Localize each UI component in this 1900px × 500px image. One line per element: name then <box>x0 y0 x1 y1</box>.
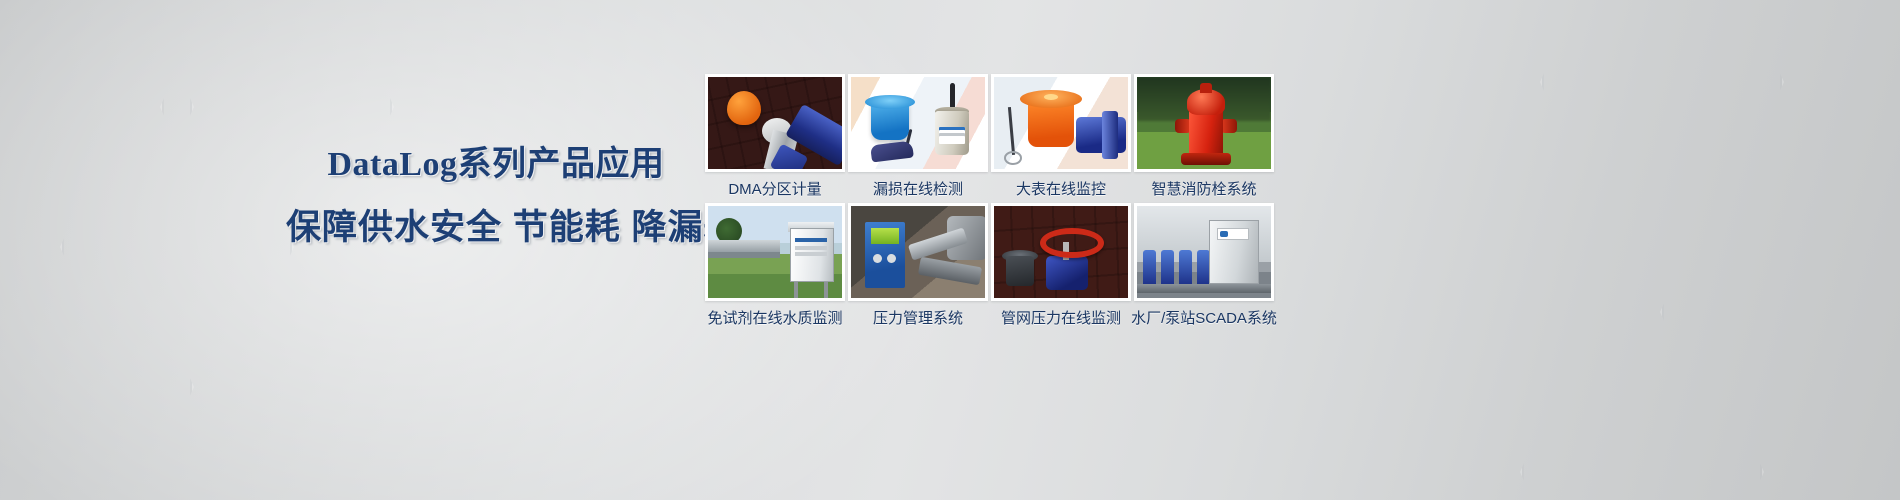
hexagon-shape <box>60 110 294 384</box>
product-tile-water-quality[interactable]: 免试剂在线水质监测 <box>705 203 845 328</box>
product-caption: 水厂/泵站SCADA系统 <box>1131 310 1277 328</box>
product-tile-pipe-pressure[interactable]: 管网压力在线监测 <box>991 203 1131 328</box>
hexagon-shape <box>1660 170 1900 454</box>
pressure-management-photo[interactable] <box>848 203 988 301</box>
product-tile-pressure-management[interactable]: 压力管理系统 <box>848 203 988 328</box>
product-tile-dma[interactable]: DMA分区计量 <box>705 74 845 199</box>
product-tile-scada[interactable]: 水厂/泵站SCADA系统 <box>1134 203 1274 328</box>
product-grid: DMA分区计量 漏损在线检测 <box>705 74 1274 328</box>
product-caption: 压力管理系统 <box>873 310 963 328</box>
product-caption: 免试剂在线水质监测 <box>707 310 842 328</box>
hexagon-shape <box>1520 330 1764 500</box>
reagent-free-water-quality-photo[interactable] <box>705 203 845 301</box>
promo-banner: DataLog系列产品应用 保障供水安全 节能耗 降漏耗 DMA分区计量 <box>0 0 1900 500</box>
hexagon-shape <box>0 0 194 244</box>
product-tile-fire-hydrant[interactable]: 智慧消防栓系统 <box>1134 74 1274 199</box>
hexagon-shape <box>0 250 194 500</box>
product-tile-leak-detection[interactable]: 漏损在线检测 <box>848 74 988 199</box>
dma-zone-metering-photo[interactable] <box>705 74 845 172</box>
headline-line-1: DataLog系列产品应用 <box>286 143 706 187</box>
product-caption: 管网压力在线监测 <box>1001 310 1121 328</box>
hexagon-shape <box>1540 0 1784 224</box>
smart-fire-hydrant-photo[interactable] <box>1134 74 1274 172</box>
headline-block: DataLog系列产品应用 保障供水安全 节能耗 降漏耗 <box>286 143 706 251</box>
pipe-network-pressure-photo[interactable] <box>991 203 1131 301</box>
product-caption: 智慧消防栓系统 <box>1151 181 1256 199</box>
product-caption: 漏损在线检测 <box>873 181 963 199</box>
product-tile-large-meter[interactable]: 大表在线监控 <box>991 74 1131 199</box>
large-meter-monitoring-photo[interactable] <box>991 74 1131 172</box>
waterworks-scada-photo[interactable] <box>1134 203 1274 301</box>
leak-online-detection-photo[interactable] <box>848 74 988 172</box>
product-caption: 大表在线监控 <box>1016 181 1106 199</box>
product-caption: DMA分区计量 <box>728 181 821 199</box>
headline-line-2: 保障供水安全 节能耗 降漏耗 <box>286 205 706 251</box>
